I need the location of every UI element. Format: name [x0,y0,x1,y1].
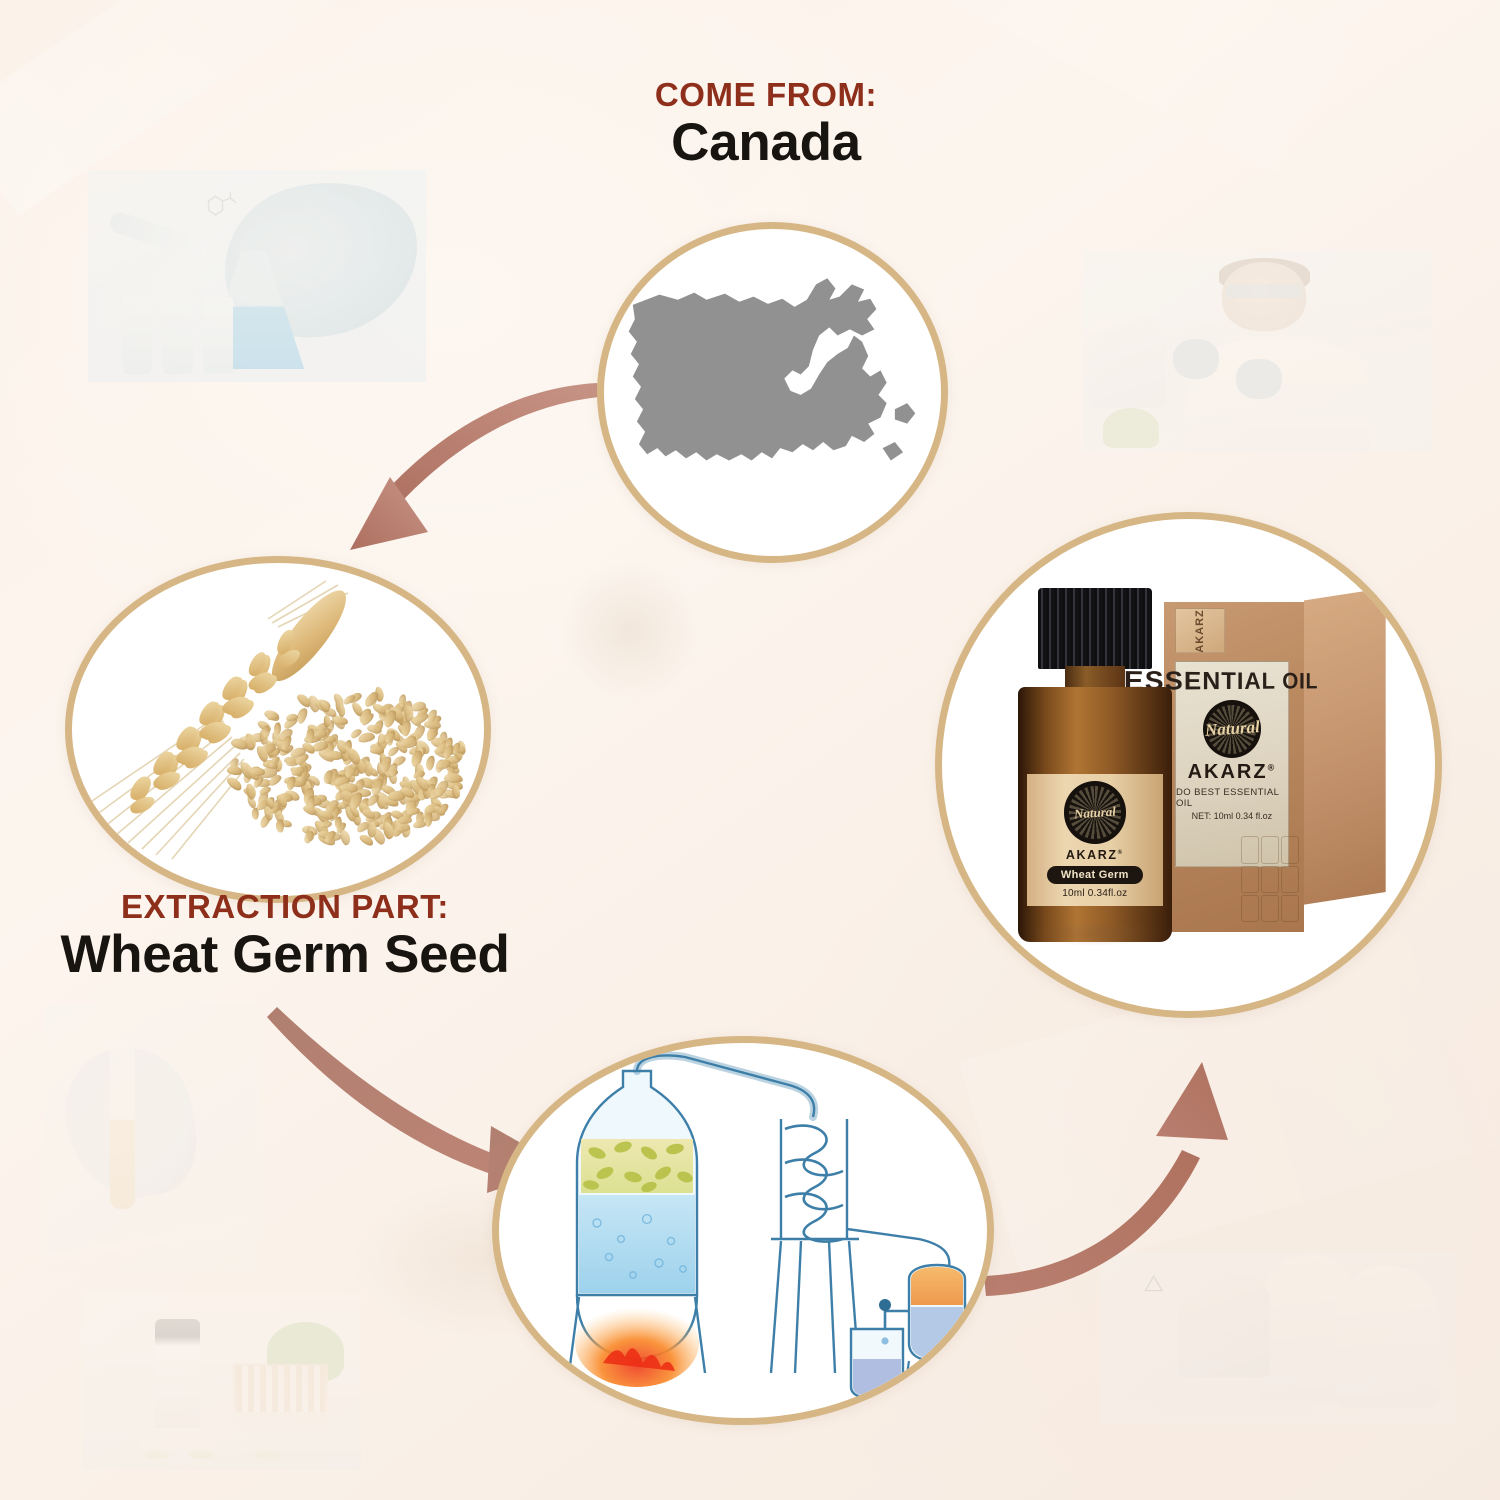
essential-oil-product-icon: AKARZ ESSENTIAL OIL Natural AKARZ® DO BE… [942,519,1435,1011]
test-tube [110,1043,135,1209]
product-circle[interactable]: AKARZ ESSENTIAL OIL Natural AKARZ® DO BE… [935,512,1442,1018]
extraction-text-block: EXTRACTION PART: Wheat Germ Seed [35,890,535,984]
bottle-body: Natural AKARZ® Wheat Germ 10ml 0.34fl.oz [1018,687,1172,942]
plant [1103,408,1159,448]
origin-kicker: COME FROM: [596,78,936,113]
gloved-hand [1173,339,1219,379]
protective-suit [1334,1266,1441,1408]
bottle-reflection [1028,921,1162,946]
backdrop-blob [560,560,700,700]
cert-icon-6 [1281,866,1299,893]
lab-bench [1128,1401,1313,1418]
microscope [1178,1276,1270,1376]
petri-dish [189,1451,214,1460]
vial [203,297,233,373]
extraction-kicker: EXTRACTION PART: [35,890,535,925]
natural-logo: Natural [1203,700,1261,758]
wheat-seed [333,716,348,725]
wheat-seed [276,819,284,832]
gloved-hand [1236,359,1282,399]
extraction-value: Wheat Germ Seed [35,925,535,984]
origin-circle[interactable] [597,222,948,563]
bottle-label: Natural AKARZ® Wheat Germ 10ml 0.34fl.oz [1027,774,1163,907]
box-brand-text: AKARZ [1188,761,1268,783]
bottle-brand-text: AKARZ [1066,848,1118,862]
box-side-panel [1304,588,1386,905]
photo-lab-flask-pipette [88,170,426,382]
arrow-origin-to-extraction [260,350,620,570]
product-bottle: Natural AKARZ® Wheat Germ 10ml 0.34fl.oz [1011,588,1179,942]
wheat-seeds-icon [72,563,484,896]
registered-mark-icon: ® [1268,762,1277,772]
microscope-base [139,1428,217,1449]
petri-dish [144,1451,169,1460]
natural-logo: Natural [1064,781,1126,843]
cert-icon-2 [1261,836,1279,863]
cert-icon-9 [1281,895,1299,922]
test-tubes [236,1366,325,1412]
cert-icon-8 [1261,895,1279,922]
box-front-panel: AKARZ ESSENTIAL OIL Natural AKARZ® DO BE… [1164,602,1304,933]
chemical-structure-icon [183,187,257,234]
box-brand: AKARZ® [1188,761,1277,784]
warning-triangle-icon [1136,1273,1172,1294]
logo-text: Natural [1204,717,1260,741]
photo-scientist-goggles-pipette [1082,250,1432,452]
wheat-seed [323,715,330,728]
origin-value: Canada [596,113,936,172]
bottle-brand: AKARZ® [1066,848,1124,862]
wheat-seed [388,791,405,801]
microscope [1089,315,1166,408]
origin-text-block: COME FROM: Canada [596,78,936,172]
wheat-seed [262,725,269,738]
bottle-cap [1038,588,1152,669]
logo-text: Natural [1073,803,1116,822]
box-tagline: DO BEST ESSENTIAL OIL [1176,787,1288,809]
box-side-text: AKARZ [1194,609,1206,653]
distillation-apparatus-icon [499,1043,987,1418]
product-box: AKARZ ESSENTIAL OIL Natural AKARZ® DO BE… [1164,588,1386,932]
microscope [155,1319,199,1442]
bottle-volume: 10ml 0.34fl.oz [1062,888,1127,899]
cert-icon-7 [1241,895,1259,922]
registered-mark-icon: ® [1118,850,1124,856]
vial [122,297,152,373]
extraction-circle[interactable] [65,556,491,903]
photo-hand-test-tube [46,1005,258,1273]
cert-icon-5 [1261,866,1279,893]
canada-map-icon [617,268,927,503]
box-net-volume: NET: 10ml 0.34 fl.oz [1192,811,1273,821]
wheat-seed [308,795,315,807]
cert-icon-1 [1241,836,1259,863]
certification-icon-grid [1241,836,1300,922]
cert-icon-3 [1281,836,1299,863]
safety-goggles-icon [1226,284,1303,298]
photo-cleanroom-scientists [1100,1252,1455,1425]
bottle-variant-badge: Wheat Germ [1047,866,1143,884]
photo-microscope-test-tubes [83,1294,361,1470]
petri-dish [255,1451,280,1460]
vial [162,297,192,373]
box-tape-label: AKARZ [1175,608,1225,653]
process-circle[interactable] [492,1036,994,1425]
cert-icon-4 [1241,866,1259,893]
infographic-canvas: AKARZ ESSENTIAL OIL Natural AKARZ® DO BE… [0,0,1500,1500]
